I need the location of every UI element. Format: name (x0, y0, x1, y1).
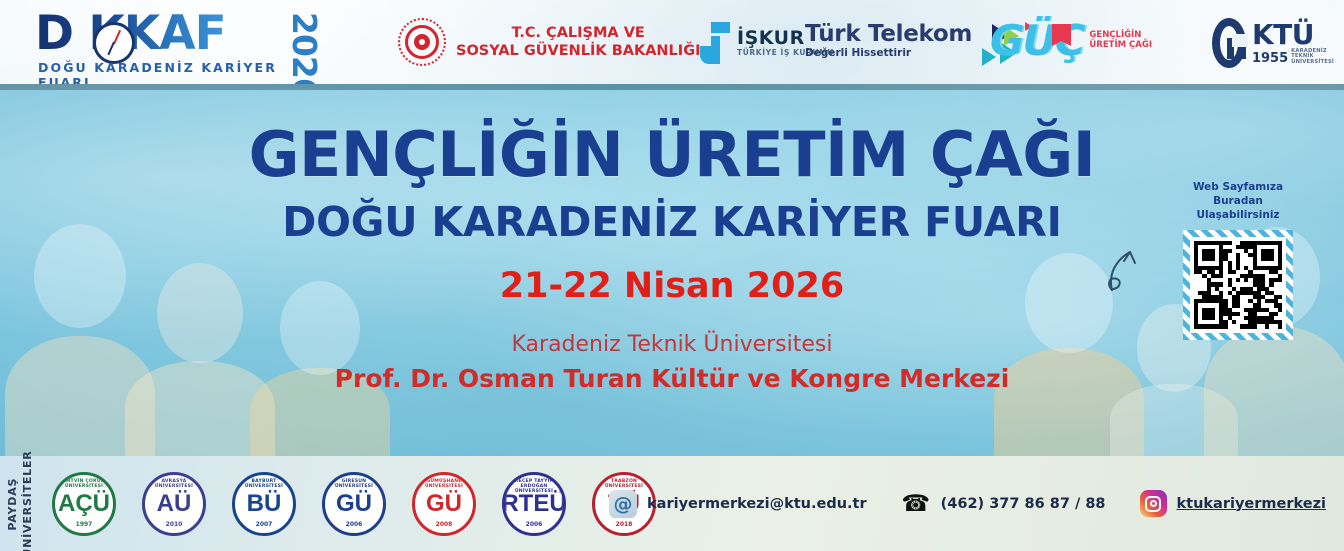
ktu-mark-icon (1212, 18, 1246, 68)
phone-contact[interactable]: ☎ (462) 377 86 87 / 88 (901, 492, 1106, 516)
qr-inner (1190, 237, 1286, 333)
guc-logo: GÜÇ GENÇLİĞİN ÜRETİM ÇAĞI (990, 22, 1152, 60)
ministry-line2: SOSYAL GÜVENLİK BAKANLIĞI (456, 42, 701, 60)
university-logo-1: ARTVİN ÇORUH ÜNİVERSİTESİAÇÜ1997 (52, 472, 116, 536)
leaf-emblem: GÜ (336, 492, 372, 516)
university-founding-year: 2007 (235, 521, 293, 528)
university-name: ARTVİN ÇORUH ÜNİVERSİTESİ (55, 479, 113, 489)
partner-university-list: ARTVİN ÇORUH ÜNİVERSİTESİAÇÜ1997AVRASYA … (52, 472, 656, 536)
at-icon: @ (609, 490, 637, 518)
mountain-emblem: AÜ (157, 492, 192, 516)
qr-caption-line2: Buradan Ulaşabilirsiniz (1174, 194, 1302, 222)
compass-icon (93, 22, 135, 64)
university-name: GİRESUN ÜNİVERSİTESİ (325, 479, 383, 489)
event-poster: D KKAF DOĞU KARADENİZ KARİYER FUARI 2026… (0, 0, 1344, 551)
qr-caption: Web Sayfamıza Buradan Ulaşabilirsiniz (1174, 180, 1302, 223)
guc-sub-line2: ÜRETİM ÇAĞI (1089, 41, 1152, 51)
university-founding-year: 2006 (325, 521, 383, 528)
qr-frame (1183, 230, 1293, 340)
main-banner: GENÇLİĞİN ÜRETİM ÇAĞI DOĞU KARADENİZ KAR… (0, 84, 1344, 456)
ktu-abbreviation: KTÜ (1252, 21, 1344, 49)
university-founding-year: 2010 (145, 521, 203, 528)
ktu-year: 1955 (1252, 52, 1288, 65)
instagram-handle[interactable]: ktukariyermerkezi (1177, 496, 1326, 512)
university-logo-4: GİRESUN ÜNİVERSİTESİGÜ2006 (322, 472, 386, 536)
university-founding-year: 2008 (415, 521, 473, 528)
turk-telekom-name: Türk Telekom (805, 22, 972, 48)
tree-emblem: AÇÜ (58, 492, 110, 516)
instagram-contact[interactable]: ktukariyermerkezi (1140, 490, 1326, 517)
qr-caption-line1: Web Sayfamıza (1174, 180, 1302, 194)
header-logo-bar: D KKAF DOĞU KARADENİZ KARİYER FUARI 2026… (0, 0, 1344, 84)
contact-block: @ kariyermerkezi@ktu.edu.tr ☎ (462) 377 … (609, 490, 1326, 518)
drop-emblem: GÜ (426, 492, 462, 516)
venue-university: Karadeniz Teknik Üniversitesi (0, 331, 1344, 359)
curved-arrow-icon (1104, 234, 1166, 296)
university-logo-6: RECEP TAYYİP ERDOĞAN ÜNİVERSİTESİRTEÜ200… (502, 472, 566, 536)
phone-icon: ☎ (901, 492, 931, 516)
email-address[interactable]: kariyermerkezi@ktu.edu.tr (647, 496, 867, 512)
university-founding-year: 1997 (55, 521, 113, 528)
turk-telekom-slogan: Değerli Hissettirir (805, 48, 972, 60)
university-name: AVRASYA ÜNİVERSİTESİ (145, 479, 203, 489)
university-logo-3: BAYBURT ÜNİVERSİTESİBÜ2007 (232, 472, 296, 536)
lamp-emblem: BÜ (247, 492, 282, 516)
wave-emblem: RTEÜ (502, 492, 566, 516)
ministry-seal-icon (398, 18, 446, 66)
footer-bar: PAYDAŞ ÜNİVERSİTELER ARTVİN ÇORUH ÜNİVER… (0, 456, 1344, 551)
university-founding-year: 2006 (505, 521, 563, 528)
partner-universities-label: PAYDAŞ ÜNİVERSİTELER (6, 450, 36, 551)
university-name: TRABZON ÜNİVERSİTESİ (595, 479, 653, 489)
ministry-line1: T.C. ÇALIŞMA VE (456, 24, 701, 42)
university-founding-year: 2018 (595, 521, 653, 528)
phone-number[interactable]: (462) 377 86 87 / 88 (941, 496, 1106, 512)
qr-code-icon[interactable] (1194, 241, 1282, 329)
banner-title: GENÇLİĞİN ÜRETİM ÇAĞI (0, 124, 1344, 186)
instagram-icon (1140, 490, 1167, 517)
dokkaf-logo: D KKAF DOĞU KARADENİZ KARİYER FUARI 2026 (30, 8, 320, 78)
qr-block[interactable]: Web Sayfamıza Buradan Ulaşabilirsiniz (1174, 180, 1302, 340)
venue-hall: Prof. Dr. Osman Turan Kültür ve Kongre M… (0, 364, 1344, 394)
university-logo-5: GÜMÜŞHANE ÜNİVERSİTESİGÜ2008 (412, 472, 476, 536)
ktu-logo: KTÜ 1955 KARADENİZ TEKNİK ÜNİVERSİTESİ (1212, 18, 1344, 68)
university-name: GÜMÜŞHANE ÜNİVERSİTESİ (415, 479, 473, 489)
ktu-full-name: KARADENİZ TEKNİK ÜNİVERSİTESİ (1291, 49, 1344, 65)
ministry-name: T.C. ÇALIŞMA VE SOSYAL GÜVENLİK BAKANLIĞ… (456, 24, 701, 60)
university-name: BAYBURT ÜNİVERSİTESİ (235, 479, 293, 489)
iskur-mark-icon (700, 22, 730, 64)
university-logo-2: AVRASYA ÜNİVERSİTESİAÜ2010 (142, 472, 206, 536)
ministry-logo: T.C. ÇALIŞMA VE SOSYAL GÜVENLİK BAKANLIĞ… (398, 18, 701, 66)
email-contact[interactable]: @ kariyermerkezi@ktu.edu.tr (609, 490, 867, 518)
